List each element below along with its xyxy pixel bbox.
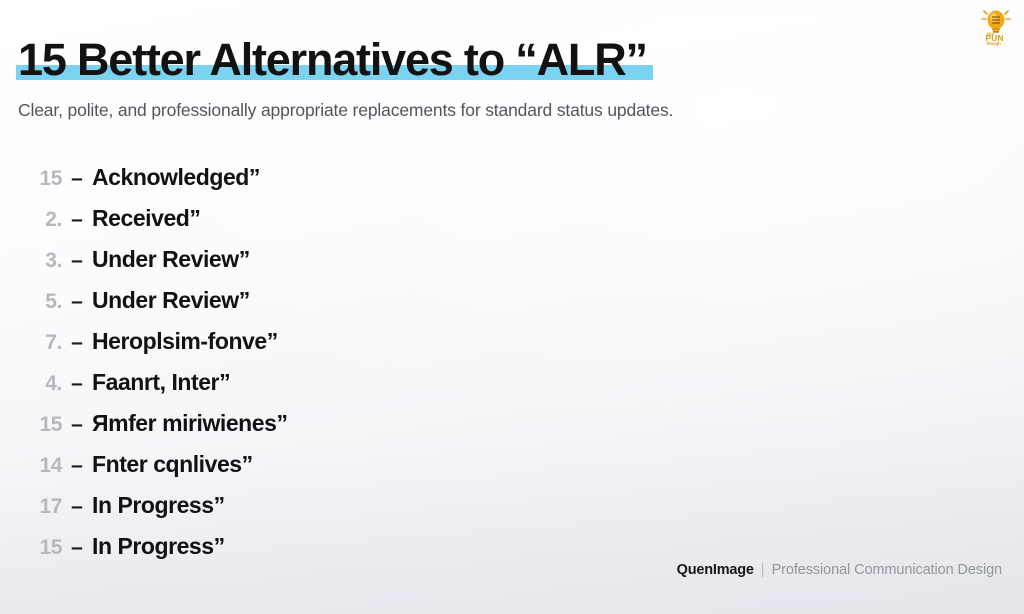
list-item-separator: – <box>62 331 92 355</box>
list-item-label: Fnter cqnlives” <box>92 451 253 478</box>
list-item-number: 5. <box>18 290 62 314</box>
list-item-number: 7. <box>18 331 62 355</box>
logo-line-though: though <box>987 41 1002 46</box>
list-item: 7. – Heroplsim-fonve” <box>18 328 984 369</box>
list-item: 4. – Faanrt, Inter” <box>18 369 984 410</box>
list-item-number: 15 <box>18 536 62 560</box>
list-item: 2. – Received” <box>18 205 984 246</box>
header: 15 Better Alternatives to “ALR” Clear, p… <box>18 36 984 122</box>
alternatives-list: 15 – Acknowledged” 2. – Received” 3. – U… <box>18 164 984 574</box>
brand-logo: the PUN though <box>974 2 1018 46</box>
list-item-separator: – <box>62 372 92 396</box>
footer-credit: QuenImage | Professional Communication D… <box>677 562 1002 578</box>
page-subtitle: Clear, polite, and professionally approp… <box>18 100 984 122</box>
list-item-number: 4. <box>18 372 62 396</box>
list-item-separator: – <box>62 290 92 314</box>
list-item-label: Heroplsim-fonve” <box>92 328 278 355</box>
list-item: 17 – In Progress” <box>18 492 984 533</box>
list-item-separator: – <box>62 208 92 232</box>
list-item-number: 17 <box>18 495 62 519</box>
list-item-number: 15 <box>18 413 62 437</box>
list-item-label: In Progress” <box>92 533 225 560</box>
list-item-label: Under Review” <box>92 246 250 273</box>
list-item-separator: – <box>62 167 92 191</box>
title-wrap: 15 Better Alternatives to “ALR” <box>18 36 647 84</box>
list-item-separator: – <box>62 413 92 437</box>
list-item: 15 – Acknowledged” <box>18 164 984 205</box>
list-item-separator: – <box>62 249 92 273</box>
list-item: 14 – Fnter cqnlives” <box>18 451 984 492</box>
footer-brand-name: QuenImage <box>677 562 754 578</box>
list-item-label: In Progress” <box>92 492 225 519</box>
list-item-number: 15 <box>18 167 62 191</box>
list-item-separator: – <box>62 495 92 519</box>
list-item: 5. – Under Review” <box>18 287 984 328</box>
list-item: 3. – Under Review” <box>18 246 984 287</box>
list-item-label: Received” <box>92 205 200 232</box>
slide-canvas: the PUN though 15 Better Alternatives to… <box>0 0 1024 614</box>
lightbulb-icon: the PUN though <box>974 2 1018 46</box>
footer-separator: | <box>761 562 765 578</box>
list-item-separator: – <box>62 454 92 478</box>
list-item-number: 2. <box>18 208 62 232</box>
list-item-number: 14 <box>18 454 62 478</box>
footer-tagline: Professional Communication Design <box>772 562 1002 578</box>
page-title: 15 Better Alternatives to “ALR” <box>18 36 647 84</box>
list-item-label: Acknowledged” <box>92 164 260 191</box>
list-item-separator: – <box>62 536 92 560</box>
list-item-number: 3. <box>18 249 62 273</box>
list-item-label: Faanrt, Inter” <box>92 369 230 396</box>
list-item: 15 – Яmfer miriwienes” <box>18 410 984 451</box>
list-item-label: Under Review” <box>92 287 250 314</box>
list-item-label: Яmfer miriwienes” <box>92 410 288 437</box>
